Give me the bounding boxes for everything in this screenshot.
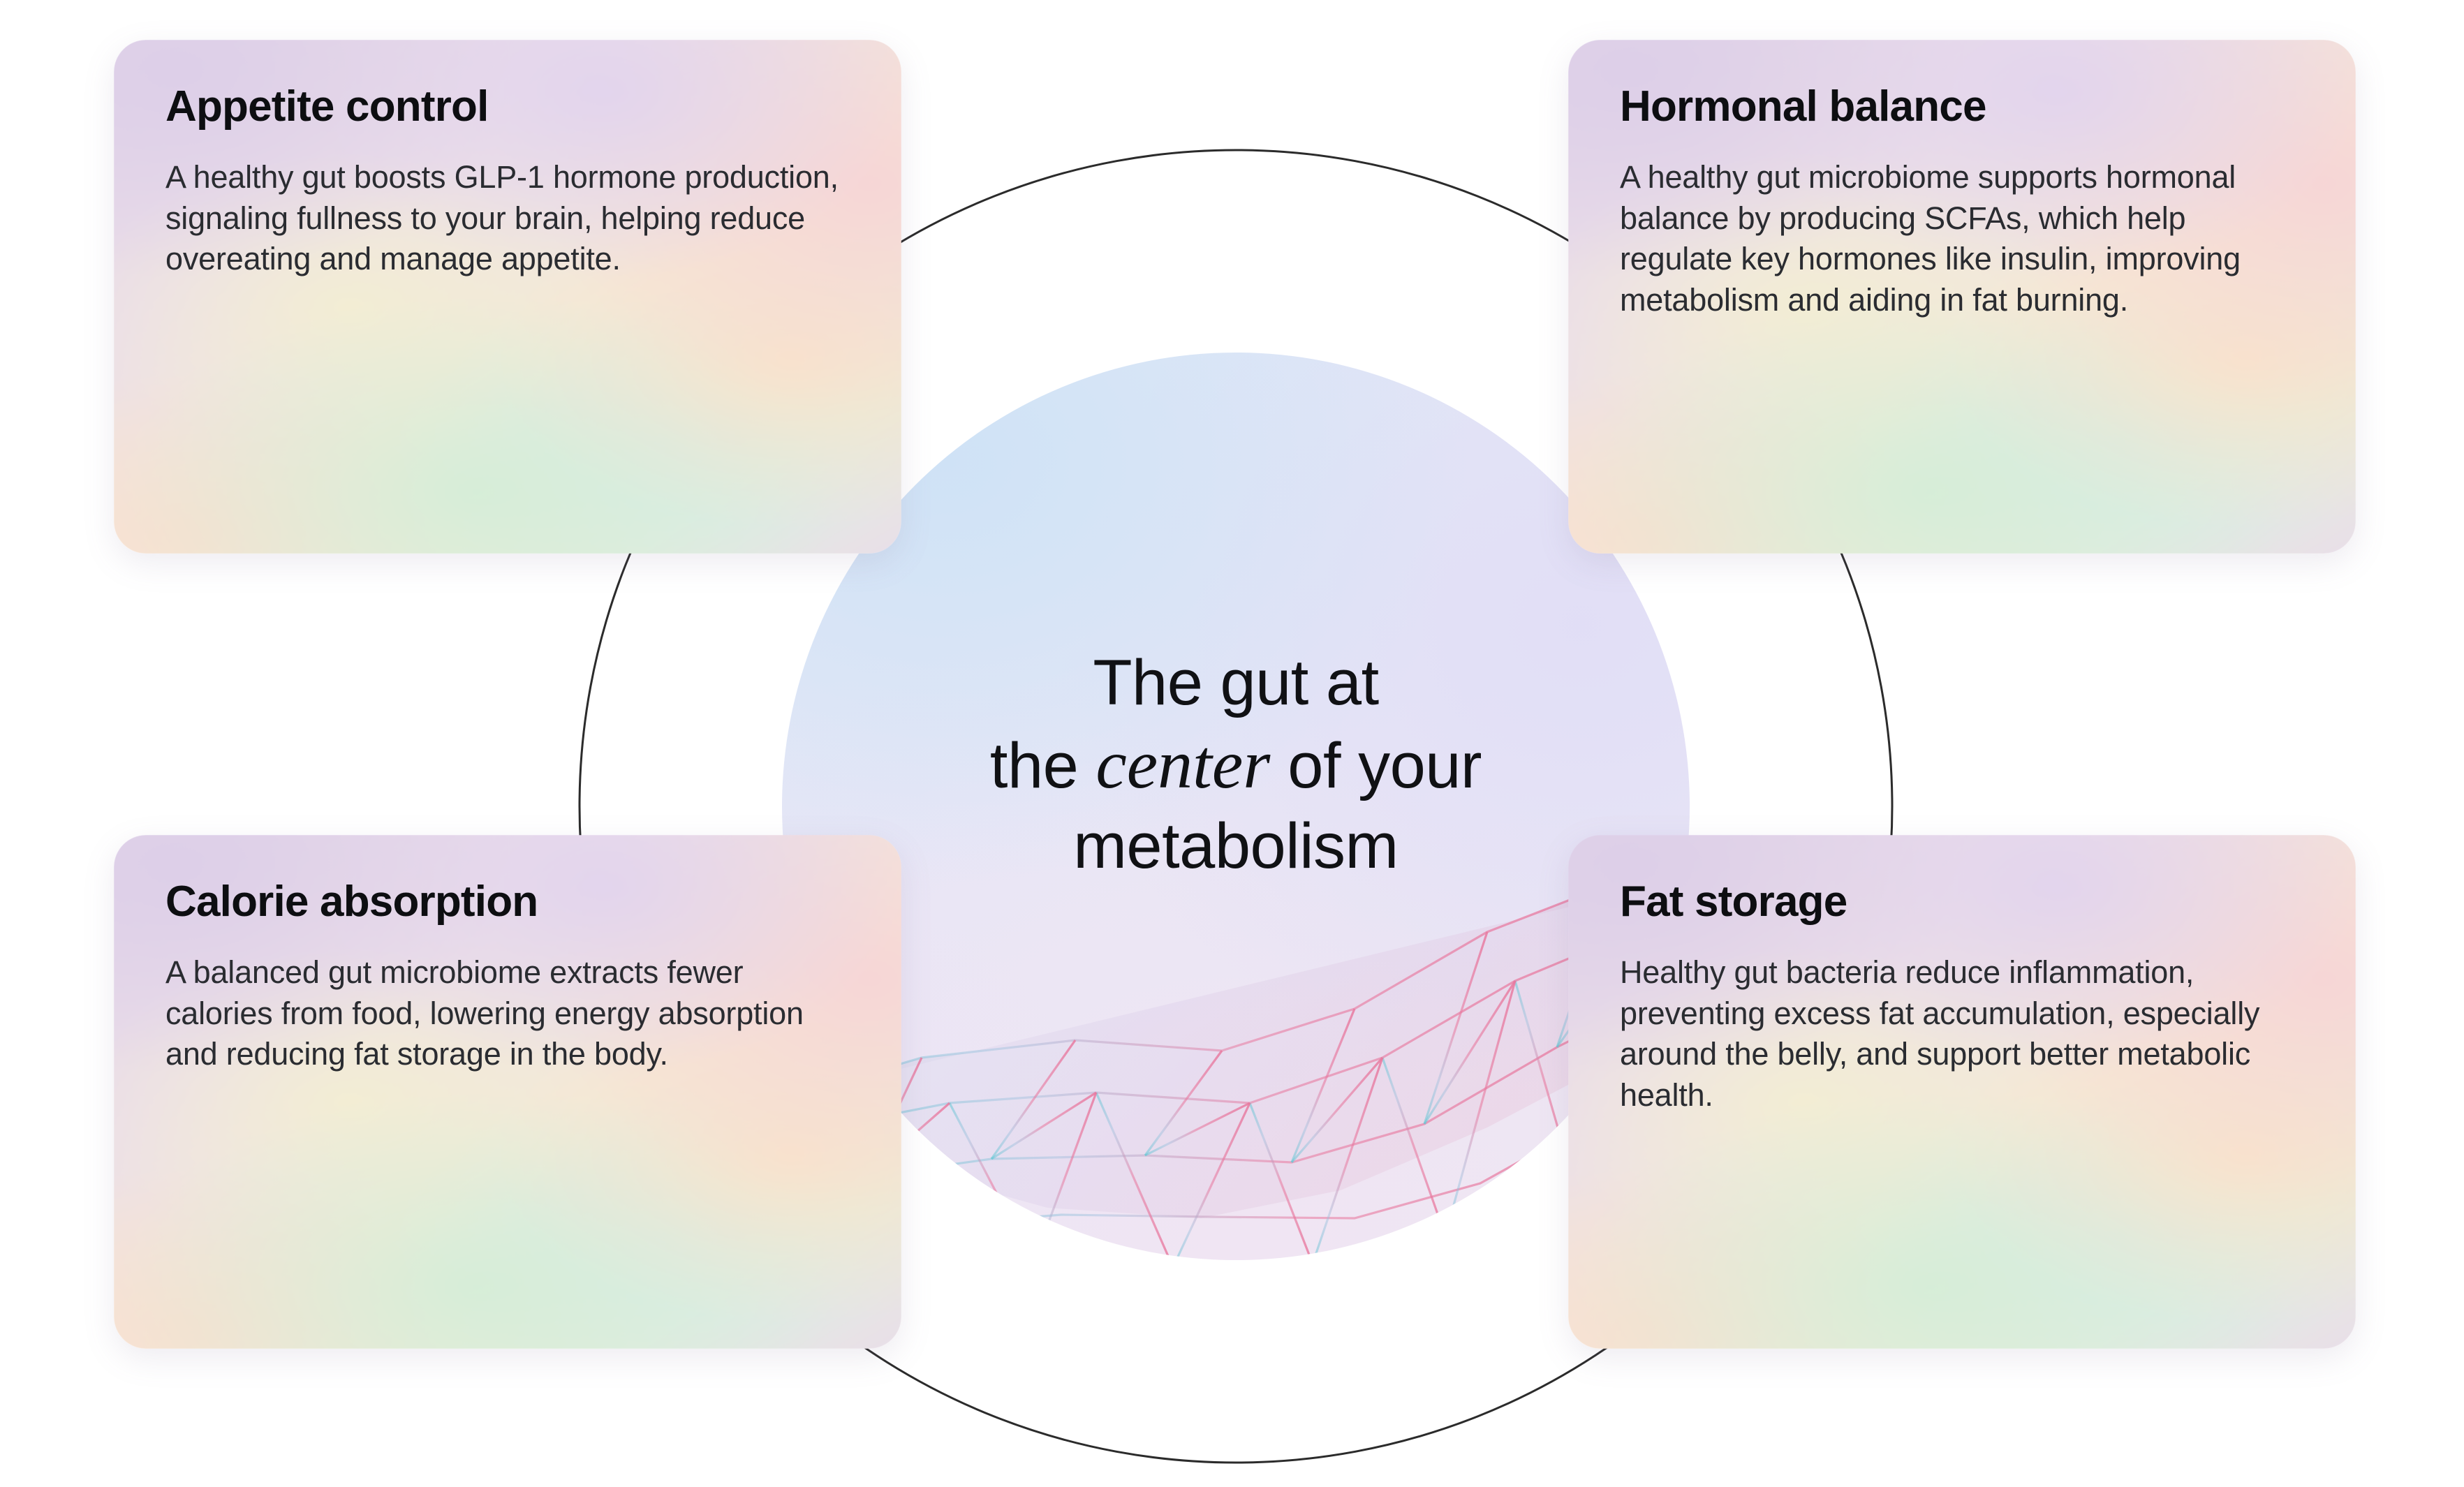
center-headline-line-2-post: of your [1270, 730, 1482, 801]
card-body: A healthy gut boosts GLP-1 hormone produ… [165, 157, 850, 280]
card-calorie-absorption[interactable]: Calorie absorption A balanced gut microb… [114, 835, 901, 1349]
card-body: A healthy gut microbiome supports hormon… [1620, 157, 2304, 320]
card-body: A balanced gut microbiome extracts fewer… [165, 952, 850, 1075]
card-appetite-control[interactable]: Appetite control A healthy gut boosts GL… [114, 40, 901, 554]
center-headline: The gut at the center of your metabolism [782, 353, 1690, 1260]
card-body: Healthy gut bacteria reduce inflammation… [1620, 952, 2304, 1116]
center-circle: The gut at the center of your metabolism [782, 353, 1690, 1260]
card-title: Appetite control [165, 83, 850, 131]
center-headline-emphasis: center [1095, 725, 1270, 803]
card-title: Hormonal balance [1620, 83, 2304, 131]
center-headline-line-2: the center of your [990, 722, 1482, 807]
card-fat-storage[interactable]: Fat storage Healthy gut bacteria reduce … [1568, 835, 2356, 1349]
center-headline-line-1: The gut at [1093, 644, 1378, 722]
card-hormonal-balance[interactable]: Hormonal balance A healthy gut microbiom… [1568, 40, 2356, 554]
card-title: Fat storage [1620, 878, 2304, 926]
center-headline-line-3: metabolism [1073, 807, 1398, 885]
card-title: Calorie absorption [165, 878, 850, 926]
center-headline-line-2-pre: the [990, 730, 1095, 801]
infographic-canvas: The gut at the center of your metabolism… [0, 0, 2464, 1487]
